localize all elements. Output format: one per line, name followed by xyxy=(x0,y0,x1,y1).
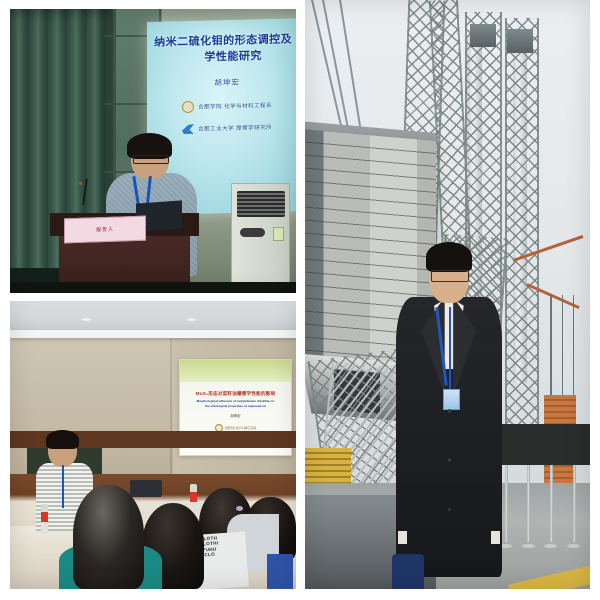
slide-affiliation-1: 合肥学院 化学与材料工程系 xyxy=(157,99,296,114)
man-in-overcoat xyxy=(396,247,501,577)
microphone-indicator-icon xyxy=(79,182,82,185)
shirt-cuff-right xyxy=(491,531,499,544)
audience-head-1 xyxy=(73,485,145,589)
lattice-mast-4 xyxy=(505,18,539,430)
air-conditioner-label xyxy=(273,227,284,241)
barrier-post-2 xyxy=(527,465,530,542)
presenter-hair xyxy=(46,430,79,450)
man-hair xyxy=(426,242,472,272)
photo-seminar-room[interactable]: MoS₂形态对菜籽油摩擦学性能的影响 Morphological influen… xyxy=(10,301,296,589)
podium-nameplate: 报告人 xyxy=(64,216,146,244)
barrier-post-base-4 xyxy=(567,544,580,548)
barrier-post-1 xyxy=(505,465,508,542)
speaker-glasses-icon xyxy=(133,155,169,164)
presenter-lanyard xyxy=(62,465,64,508)
slide-affiliation-2: 合肥工业大学 摩擦学研究所 xyxy=(157,122,296,135)
air-conditioner-panel xyxy=(240,228,265,237)
university-swoosh-icon xyxy=(182,124,194,134)
seminar-cornice xyxy=(10,330,296,339)
photo-crane-portrait[interactable] xyxy=(305,0,590,589)
man-glasses-icon xyxy=(431,270,469,282)
shirt-cuff-left xyxy=(398,531,406,544)
blue-bag xyxy=(267,554,293,589)
man-lanyard xyxy=(449,307,452,393)
barrier-post-3 xyxy=(550,465,553,542)
coat-button-1 xyxy=(448,409,452,413)
projector xyxy=(130,480,161,497)
mast-head-1 xyxy=(470,24,496,48)
water-bottle xyxy=(41,504,48,534)
slide-header-band xyxy=(180,360,292,383)
mast-head-2 xyxy=(507,29,533,53)
barrier-post-base-3 xyxy=(544,544,557,548)
lecture-hall-floor xyxy=(10,282,296,293)
air-conditioner-vent xyxy=(237,191,285,217)
slide2-author: 胡坤宏 xyxy=(180,413,292,418)
barrier-post-4 xyxy=(573,465,576,542)
carried-bag xyxy=(392,554,424,589)
slide-author: 胡坤宏 xyxy=(157,76,296,90)
air-conditioner xyxy=(231,183,290,284)
university-seal-icon xyxy=(182,101,194,113)
barrier-post-base-2 xyxy=(522,544,535,548)
slide2-title: MoS₂形态对菜籽油摩擦学性能的影响 xyxy=(180,391,292,397)
conference-badge xyxy=(443,389,460,410)
photo-lecture-podium[interactable]: 纳米二硫化钼的形态调控及 学性能研究 胡坤宏 合肥学院 化学与材料工程系 合肥工… xyxy=(10,9,296,293)
slide2-subtitle: Morphological influence of molybdenum di… xyxy=(180,399,292,408)
photo-collage: 纳米二硫化钼的形态调控及 学性能研究 胡坤宏 合肥学院 化学与材料工程系 合肥工… xyxy=(0,0,600,600)
slide-title: 纳米二硫化钼的形态调控及 学性能研究 xyxy=(153,33,294,68)
